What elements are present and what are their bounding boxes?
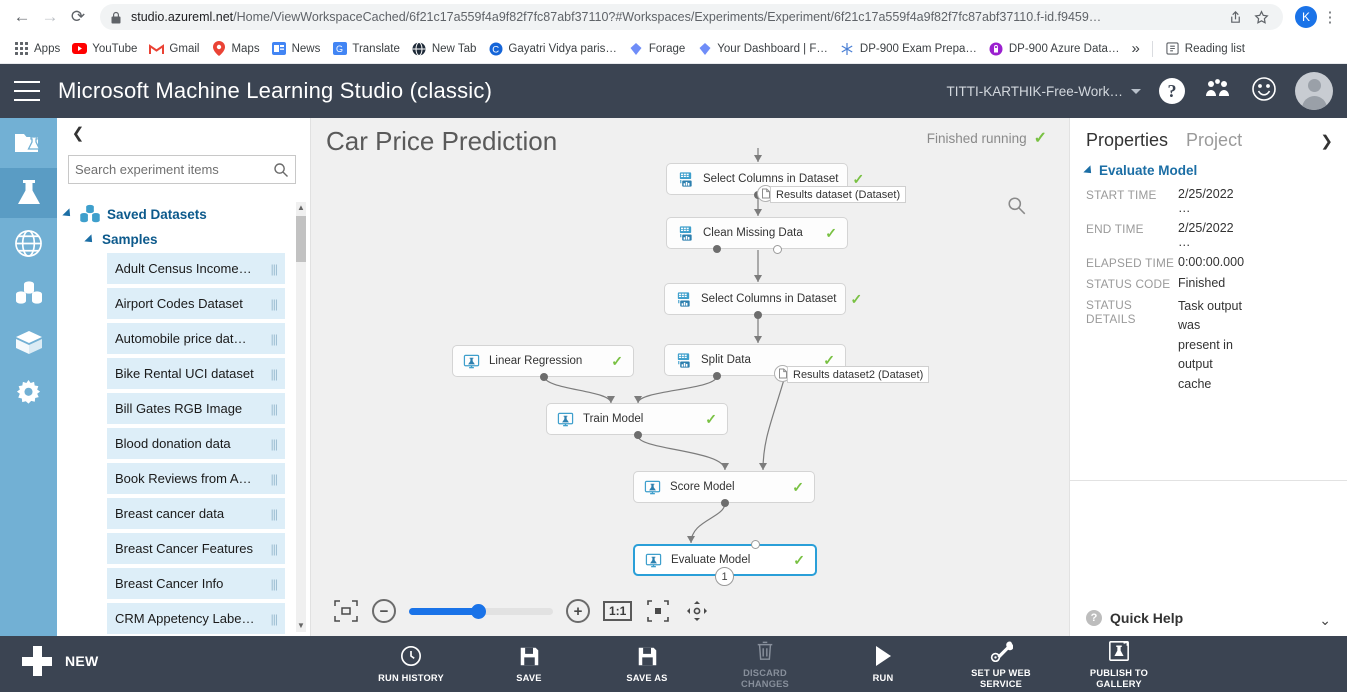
play-triangle-icon xyxy=(873,644,893,668)
drag-grip-icon[interactable]: ||| xyxy=(271,297,277,311)
scrollbar-thumb[interactable] xyxy=(296,216,306,262)
module-label: Select Columns in Dataset xyxy=(703,173,839,185)
drag-grip-icon[interactable]: ||| xyxy=(271,612,277,626)
property-row-end-time: END TIME 2/25/2022 … xyxy=(1070,218,1347,252)
profile-avatar[interactable]: K xyxy=(1295,6,1317,28)
dataset-item[interactable]: Bike Rental UCI dataset||| xyxy=(107,358,285,389)
dataset-label: Book Reviews from A… xyxy=(115,471,252,486)
check-icon: ✓ xyxy=(839,171,865,188)
zoom-slider-fill xyxy=(409,608,477,615)
forward-arrow-icon[interactable]: → xyxy=(36,3,64,31)
app-header: Microsoft Machine Learning Studio (class… xyxy=(0,64,1347,118)
dataset-transform-icon xyxy=(675,352,692,369)
experiment-items-panel: ❮ Saved Datasets Samples Adult Cen xyxy=(57,118,311,636)
user-avatar[interactable] xyxy=(1295,72,1333,110)
dataset-item[interactable]: Breast cancer data||| xyxy=(107,498,285,529)
share-icon[interactable] xyxy=(1223,5,1247,29)
omnibox-actions xyxy=(1223,5,1273,29)
run-history-button[interactable]: RUN HISTORY xyxy=(370,644,452,684)
bookmark-label: Maps xyxy=(231,43,259,55)
tooltip-results-dataset2: Results dataset2 (Dataset) xyxy=(787,366,929,383)
zoom-out-button[interactable]: − xyxy=(372,599,396,623)
drag-grip-icon[interactable]: ||| xyxy=(271,577,277,591)
property-value: 2/25/2022 … xyxy=(1178,221,1242,249)
property-key: STATUS DETAILS xyxy=(1086,297,1178,394)
bookmark-label: DP-900 Azure Data… xyxy=(1009,43,1120,55)
bookmark-translate[interactable]: G Translate xyxy=(326,39,406,58)
publish-gallery-icon xyxy=(1108,639,1130,663)
bookmark-youtube[interactable]: YouTube xyxy=(66,39,143,58)
output-port[interactable] xyxy=(754,311,762,319)
check-icon: ✓ xyxy=(779,552,805,569)
quick-help-title: Quick Help xyxy=(1110,610,1183,626)
output-port[interactable] xyxy=(634,431,642,439)
browser-toolbar: ← → ⟳ studio.azureml.net/Home/ViewWorksp… xyxy=(0,0,1347,34)
help-icon[interactable]: ? xyxy=(1159,78,1185,104)
zoom-in-label: + xyxy=(574,604,583,619)
drag-grip-icon[interactable]: ||| xyxy=(271,367,277,381)
dataset-label: Blood donation data xyxy=(115,436,231,451)
drag-grip-icon[interactable]: ||| xyxy=(271,402,277,416)
expand-triangle-icon xyxy=(1083,165,1094,176)
run-status-label: Finished running xyxy=(927,131,1027,146)
tooltip-text: Results dataset (Dataset) xyxy=(776,189,900,201)
scroll-down-icon[interactable]: ▼ xyxy=(296,620,306,632)
gmail-icon xyxy=(149,41,164,56)
bookmarks-overflow-button[interactable]: » xyxy=(1125,38,1145,59)
properties-pane: Properties Project ❯ Evaluate Model STAR… xyxy=(1069,118,1347,636)
property-value: 2/25/2022 … xyxy=(1178,187,1242,215)
app-title: Microsoft Machine Learning Studio (class… xyxy=(58,78,492,104)
svg-text:C: C xyxy=(492,44,499,55)
discard-changes-button[interactable]: DISCARD CHANGES xyxy=(724,639,806,690)
circle-g-icon: C xyxy=(488,41,503,56)
dataset-item[interactable]: Blood donation data||| xyxy=(107,428,285,459)
dataset-label: Adult Census Income… xyxy=(115,261,252,276)
bookmark-forage[interactable]: Forage xyxy=(623,39,691,58)
search-experiment-items[interactable] xyxy=(68,155,296,184)
module-node-select-columns-2[interactable]: Select Columns in Dataset ✓ xyxy=(664,283,846,315)
pan-icon[interactable] xyxy=(684,598,710,624)
chevron-down-icon xyxy=(1131,89,1141,94)
rail-item-experiments[interactable] xyxy=(0,168,57,218)
zoom-out-label: − xyxy=(380,604,389,619)
module-label: Split Data xyxy=(701,354,751,366)
divider xyxy=(1070,480,1347,481)
dataset-item[interactable]: Adult Census Income…||| xyxy=(107,253,285,284)
snowflake-icon xyxy=(840,41,855,56)
model-icon xyxy=(644,479,661,496)
rail-item-datasets[interactable] xyxy=(0,268,57,318)
apps-grid-icon xyxy=(14,41,29,56)
zoom-slider-knob[interactable] xyxy=(471,604,486,619)
module-node-clean-missing-data[interactable]: Clean Missing Data ✓ xyxy=(666,217,848,249)
check-icon: ✓ xyxy=(691,411,717,428)
url-text: studio.azureml.net/Home/ViewWorkspaceCac… xyxy=(131,4,1101,30)
bookmark-gayatri[interactable]: C Gayatri Vidya paris… xyxy=(482,39,622,58)
output-port[interactable] xyxy=(713,245,721,253)
bookmark-label: Translate xyxy=(352,43,400,55)
save-as-button[interactable]: SAVE AS xyxy=(606,644,688,684)
property-value: Finished xyxy=(1178,276,1242,291)
run-button[interactable]: RUN xyxy=(842,644,924,684)
toolbar-label: SAVE AS xyxy=(626,673,667,684)
trash-icon xyxy=(755,639,775,663)
dataset-item[interactable]: Breast Cancer Features||| xyxy=(107,533,285,564)
bookmark-label: Forage xyxy=(649,43,685,55)
module-label: Score Model xyxy=(670,481,735,493)
module-label: Evaluate Model xyxy=(671,554,750,566)
reload-icon[interactable]: ⟳ xyxy=(64,3,92,31)
news-icon xyxy=(272,41,287,56)
property-key: START TIME xyxy=(1086,187,1178,215)
app-root: ← → ⟳ studio.azureml.net/Home/ViewWorksp… xyxy=(0,0,1347,692)
bookmark-label: Gayatri Vidya paris… xyxy=(508,43,616,55)
overflow-chevrons: » xyxy=(1131,40,1139,57)
dataset-item[interactable]: Book Reviews from A…||| xyxy=(107,463,285,494)
dataset-item[interactable]: CRM Appetency Labe…||| xyxy=(107,603,285,634)
chrome-menu-icon[interactable]: ⋮ xyxy=(1321,8,1339,26)
header-actions: TITTI-KARTHIK-Free-Work… ? xyxy=(946,72,1333,110)
module-label: Select Columns in Dataset xyxy=(701,293,837,305)
drag-grip-icon[interactable]: ||| xyxy=(271,332,277,346)
output-port[interactable] xyxy=(721,499,729,507)
drag-grip-icon[interactable]: ||| xyxy=(271,472,277,486)
zoom-slider[interactable] xyxy=(409,608,553,615)
url-domain: studio.azureml.net xyxy=(131,10,233,24)
properties-module-name: Evaluate Model xyxy=(1099,163,1197,178)
model-icon xyxy=(463,353,480,370)
toolbar-label: RUN xyxy=(873,673,894,684)
toolbar-label: DISCARD CHANGES xyxy=(724,668,806,690)
question-mark-icon: ? xyxy=(1086,610,1102,626)
check-icon: ✓ xyxy=(778,479,804,496)
lock-icon xyxy=(110,11,122,24)
bookmark-news[interactable]: News xyxy=(266,39,327,58)
bottom-toolbar: NEW RUN HISTORY SAVE xyxy=(0,636,1347,692)
dataset-tree: Saved Datasets Samples Adult Census Inco… xyxy=(57,200,311,636)
wrench-gear-icon xyxy=(989,639,1013,663)
module-label: Clean Missing Data xyxy=(703,227,803,239)
output-port[interactable] xyxy=(540,373,548,381)
bookmark-dp900-exam[interactable]: DP-900 Exam Prepa… xyxy=(834,39,983,58)
dataset-item[interactable]: Bill Gates RGB Image||| xyxy=(107,393,285,424)
rail-item-trained-models[interactable] xyxy=(0,318,57,368)
bookmark-apps[interactable]: Apps xyxy=(8,39,66,58)
bookmarks-bar: Apps YouTube Gmail Maps News xyxy=(0,34,1347,64)
module-index-badge: 1 xyxy=(715,567,734,586)
expand-triangle-icon xyxy=(62,208,73,219)
tab-properties[interactable]: Properties xyxy=(1086,130,1168,151)
quick-help-header[interactable]: ? Quick Help xyxy=(1086,610,1183,626)
tree-node-samples[interactable]: Samples xyxy=(57,228,311,253)
hamburger-menu-icon[interactable] xyxy=(14,81,40,101)
workspace-name: TITTI-KARTHIK-Free-Work… xyxy=(946,84,1123,99)
bookmark-label: Your Dashboard | F… xyxy=(717,43,828,55)
dataset-item[interactable]: Automobile price dat…||| xyxy=(107,323,285,354)
dataset-label: Breast Cancer Info xyxy=(115,576,223,591)
dataset-transform-icon xyxy=(677,171,694,188)
bookmark-label: YouTube xyxy=(92,43,137,55)
scroll-up-icon[interactable]: ▲ xyxy=(296,202,306,214)
search-input[interactable] xyxy=(75,162,273,177)
rail-item-settings[interactable] xyxy=(0,368,57,418)
chevron-right-icon[interactable]: ❯ xyxy=(1320,132,1333,150)
left-nav-rail xyxy=(0,118,57,636)
dataset-label: Breast cancer data xyxy=(115,506,224,521)
dataset-transform-icon xyxy=(677,225,694,242)
bookmark-maps[interactable]: Maps xyxy=(205,39,265,58)
toolbar-actions: RUN HISTORY SAVE SAVE AS xyxy=(370,636,1160,692)
rail-item-projects[interactable] xyxy=(0,118,57,168)
dataset-transform-icon xyxy=(675,291,692,308)
property-value: Task output was present in output cache xyxy=(1178,297,1242,394)
dataset-item[interactable]: Airport Codes Dataset||| xyxy=(107,288,285,319)
property-key: STATUS CODE xyxy=(1086,276,1178,291)
toolbar-label: SAVE xyxy=(516,673,541,684)
bookmark-label: New Tab xyxy=(432,43,477,55)
floppy-disk-icon xyxy=(637,644,658,668)
experiment-canvas[interactable]: Car Price Prediction Finished running ✓ xyxy=(311,118,1069,636)
new-button[interactable]: NEW xyxy=(22,646,99,676)
actual-size-button[interactable]: 1:1 xyxy=(603,601,632,621)
dataset-label: Airport Codes Dataset xyxy=(115,296,243,311)
tree-label-samples: Samples xyxy=(102,232,158,247)
input-port-secondary[interactable] xyxy=(751,540,760,549)
url-path: /Home/ViewWorkspaceCached/6f21c17a559f4a… xyxy=(233,10,1101,24)
property-value: 0:00:00.000 xyxy=(1178,255,1242,270)
dataset-label: Breast Cancer Features xyxy=(115,541,253,556)
drag-grip-icon[interactable]: ||| xyxy=(271,437,277,451)
page-title: Car Price Prediction xyxy=(326,126,557,157)
address-bar[interactable]: studio.azureml.net/Home/ViewWorkspaceCac… xyxy=(100,4,1283,30)
clock-icon xyxy=(400,644,422,668)
bookmark-gmail[interactable]: Gmail xyxy=(143,39,205,58)
save-button[interactable]: SAVE xyxy=(488,644,570,684)
floppy-disk-icon xyxy=(519,644,540,668)
forage-icon xyxy=(629,41,644,56)
run-status: Finished running ✓ xyxy=(927,128,1047,148)
fit-to-screen-icon[interactable] xyxy=(333,598,359,624)
drag-grip-icon[interactable]: ||| xyxy=(271,262,277,276)
reading-list-button[interactable]: Reading list xyxy=(1159,39,1251,58)
bookmark-dp900-azure[interactable]: DP-900 Azure Data… xyxy=(983,39,1126,58)
smiley-feedback-icon[interactable] xyxy=(1251,76,1277,107)
bookmarks-divider xyxy=(1152,41,1153,57)
sidebar-scrollbar[interactable]: ▲ ▼ xyxy=(296,202,306,632)
dataset-label: Automobile price dat… xyxy=(115,331,247,346)
canvas-search-button[interactable] xyxy=(1007,196,1027,221)
drag-grip-icon[interactable]: ||| xyxy=(271,507,277,521)
tab-project[interactable]: Project xyxy=(1186,130,1242,151)
dataset-label: Bill Gates RGB Image xyxy=(115,401,242,416)
module-label: Linear Regression xyxy=(489,355,582,367)
dataset-label: Bike Rental UCI dataset xyxy=(115,366,254,381)
forage-icon xyxy=(697,41,712,56)
bookmark-label: Gmail xyxy=(169,43,199,55)
check-icon: ✓ xyxy=(811,225,837,242)
check-icon: ✓ xyxy=(597,353,623,370)
maps-pin-icon xyxy=(211,41,226,56)
property-row-elapsed-time: ELAPSED TIME 0:00:00.000 xyxy=(1070,252,1347,273)
model-icon xyxy=(557,411,574,428)
dataset-label: CRM Appetency Labe… xyxy=(115,611,254,626)
check-icon: ✓ xyxy=(1034,128,1047,148)
check-icon: ✓ xyxy=(837,291,863,308)
plus-icon xyxy=(22,646,52,676)
output-port-secondary[interactable] xyxy=(773,245,782,254)
bookmark-label: DP-900 Exam Prepa… xyxy=(860,43,977,55)
translate-icon: G xyxy=(332,41,347,56)
search-icon[interactable] xyxy=(273,162,289,178)
bookmark-your-dashboard[interactable]: Your Dashboard | F… xyxy=(691,39,834,58)
properties-module-header[interactable]: Evaluate Model xyxy=(1070,151,1347,184)
toolbar-label: SET UP WEB SERVICE xyxy=(960,668,1042,690)
reading-list-label: Reading list xyxy=(1185,43,1245,55)
tooltip-text: Results dataset2 (Dataset) xyxy=(793,369,923,381)
property-row-start-time: START TIME 2/25/2022 … xyxy=(1070,184,1347,218)
back-arrow-icon[interactable]: ← xyxy=(8,3,36,31)
zoom-to-selection-icon[interactable] xyxy=(645,598,671,624)
module-label: Train Model xyxy=(583,413,643,425)
tree-label-saved-datasets: Saved Datasets xyxy=(107,207,207,222)
rail-item-web-services[interactable] xyxy=(0,218,57,268)
property-key: END TIME xyxy=(1086,221,1178,249)
toolbar-label: RUN HISTORY xyxy=(378,673,444,684)
workspace-selector[interactable]: TITTI-KARTHIK-Free-Work… xyxy=(946,84,1141,99)
tooltip-results-dataset: Results dataset (Dataset) xyxy=(770,186,906,203)
bookmark-label: News xyxy=(292,43,321,55)
youtube-icon xyxy=(72,41,87,56)
expand-triangle-icon xyxy=(84,234,95,245)
canvas-zoom-toolbar: − + 1:1 xyxy=(333,598,710,624)
zoom-in-button[interactable]: + xyxy=(566,599,590,623)
set-up-web-service-button[interactable]: SET UP WEB SERVICE xyxy=(960,639,1042,690)
tree-node-saved-datasets[interactable]: Saved Datasets xyxy=(57,200,311,228)
chevron-left-icon[interactable]: ❮ xyxy=(67,122,89,144)
new-label: NEW xyxy=(65,653,99,669)
publish-to-gallery-button[interactable]: PUBLISH TO GALLERY xyxy=(1078,639,1160,690)
svg-text:G: G xyxy=(336,44,343,54)
chevron-down-icon[interactable]: ⌄ xyxy=(1319,612,1331,629)
property-row-status-details: STATUS DETAILS Task output was present i… xyxy=(1070,294,1347,397)
community-people-icon[interactable] xyxy=(1203,78,1233,105)
property-key: ELAPSED TIME xyxy=(1086,255,1178,270)
properties-tabs: Properties Project xyxy=(1070,118,1347,151)
bookmark-new-tab[interactable]: New Tab xyxy=(406,39,483,58)
property-row-status-code: STATUS CODE Finished xyxy=(1070,273,1347,294)
output-port[interactable] xyxy=(713,372,721,380)
dataset-item[interactable]: Breast Cancer Info||| xyxy=(107,568,285,599)
purple-lock-icon xyxy=(989,41,1004,56)
bookmark-star-icon[interactable] xyxy=(1249,5,1273,29)
globe-icon xyxy=(412,41,427,56)
bookmark-label: Apps xyxy=(34,43,60,55)
datasets-cylinders-icon xyxy=(79,204,101,224)
model-icon xyxy=(645,552,662,569)
drag-grip-icon[interactable]: ||| xyxy=(271,542,277,556)
toolbar-label: PUBLISH TO GALLERY xyxy=(1078,668,1160,690)
reading-list-icon xyxy=(1165,41,1180,56)
